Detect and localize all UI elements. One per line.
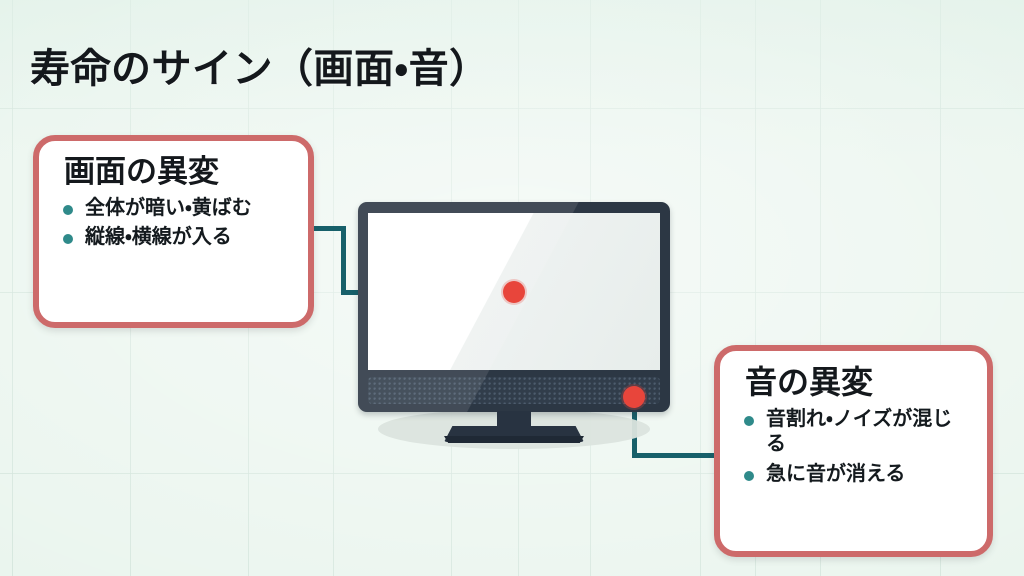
callout-card-sound: 音の異変 音割れ・ノイズが混じる 急に音が消える xyxy=(714,345,993,557)
sound-marker-dot xyxy=(623,386,645,408)
callout-bullets-sound: 音割れ・ノイズが混じる 急に音が消える xyxy=(742,407,971,488)
television-bezel xyxy=(358,202,670,412)
list-item: 全体が暗い・黄ばむ xyxy=(61,196,292,222)
callout-card-screen: 画面の異変 全体が暗い・黄ばむ 縦線・横線が入る xyxy=(33,135,314,328)
screen-marker-dot xyxy=(503,281,525,303)
callout-bullets-screen: 全体が暗い・黄ばむ 縦線・横線が入る xyxy=(61,196,292,251)
television-illustration xyxy=(352,196,676,456)
connector-screen-segment-vertical xyxy=(341,226,346,295)
list-item: 縦線・横線が入る xyxy=(61,225,292,251)
tv-speaker-grille xyxy=(368,377,660,404)
callout-title-screen: 画面の異変 xyxy=(64,155,292,190)
slide-canvas: 寿命のサイン（画面・音） 画面の異変 全体が暗い・黄ばむ 縦線・横線が入る 音の… xyxy=(0,0,1024,576)
television-stand-base-shadow xyxy=(444,436,584,443)
callout-title-sound: 音の異変 xyxy=(745,365,971,401)
page-title: 寿命のサイン（画面・音） xyxy=(30,36,490,94)
list-item: 音割れ・ノイズが混じる xyxy=(742,407,971,458)
list-item: 急に音が消える xyxy=(742,462,971,488)
